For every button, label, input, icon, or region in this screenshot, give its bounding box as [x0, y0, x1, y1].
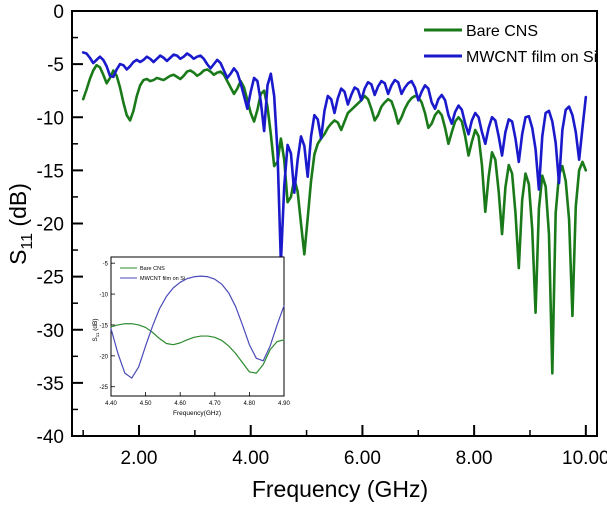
- svg-text:S11 (dB): S11 (dB): [92, 318, 100, 341]
- y-axis-title-sub: 11: [19, 233, 36, 250]
- y-tick-label: 0: [53, 2, 64, 23]
- inset-legend-label: MWCNT film on Si: [140, 276, 185, 282]
- y-tick-label: -25: [37, 268, 64, 289]
- x-tick-label: 8.00: [456, 448, 493, 469]
- inset-y-tick-label: -20: [99, 354, 108, 360]
- inset-chart: -5-10-15-20-25 4.404.504.604.704.804.90 …: [92, 257, 290, 417]
- y-tick-label: -15: [37, 161, 64, 182]
- y-tick-label: -35: [37, 374, 64, 395]
- inset-y-tick-label: -5: [103, 262, 109, 268]
- inset-x-tick-label: 4.80: [244, 401, 256, 407]
- y-tick-label: -40: [37, 427, 64, 448]
- inset-legend-label: Bare CNS: [140, 266, 165, 272]
- inset-y-axis-title: S11 (dB): [92, 318, 100, 341]
- legend-label: Bare CNS: [466, 23, 538, 40]
- inset-y-tick-label: -15: [99, 323, 108, 329]
- inset-x-tick-label: 4.50: [140, 401, 152, 407]
- inset-x-tick-label: 4.70: [209, 401, 221, 407]
- inset-x-tick-label: 4.90: [278, 401, 290, 407]
- y-tick-label: -5: [47, 55, 64, 76]
- inset-x-tick-label: 4.60: [174, 401, 186, 407]
- y-tick-label: -10: [37, 108, 64, 129]
- y-tick-label: -30: [37, 321, 64, 342]
- y-axis-title-unit: (dB): [5, 183, 31, 233]
- x-tick-label: 6.00: [344, 448, 381, 469]
- inset-y-tick-label: -10: [99, 293, 108, 299]
- legend-label: MWCNT film on Si: [466, 49, 597, 66]
- y-tick-label: -20: [37, 215, 64, 236]
- chart-figure: 0-5-10-15-20-25-30-35-40 2.004.006.008.0…: [0, 0, 607, 505]
- inset-x-tick-label: 4.40: [105, 401, 117, 407]
- x-tick-label: 10.00: [562, 448, 607, 469]
- inset-x-axis-title: Frequency(GHz): [173, 410, 221, 417]
- inset-ylabel-unit: (dB): [92, 318, 99, 332]
- s11-reflection-chart: 0-5-10-15-20-25-30-35-40 2.004.006.008.0…: [0, 0, 607, 505]
- x-axis-title: Frequency (GHz): [252, 476, 428, 502]
- x-tick-label: 4.00: [232, 448, 269, 469]
- y-axis-title-base: S: [5, 250, 31, 265]
- x-tick-label: 2.00: [121, 448, 158, 469]
- inset-y-tick-label: -25: [99, 385, 108, 391]
